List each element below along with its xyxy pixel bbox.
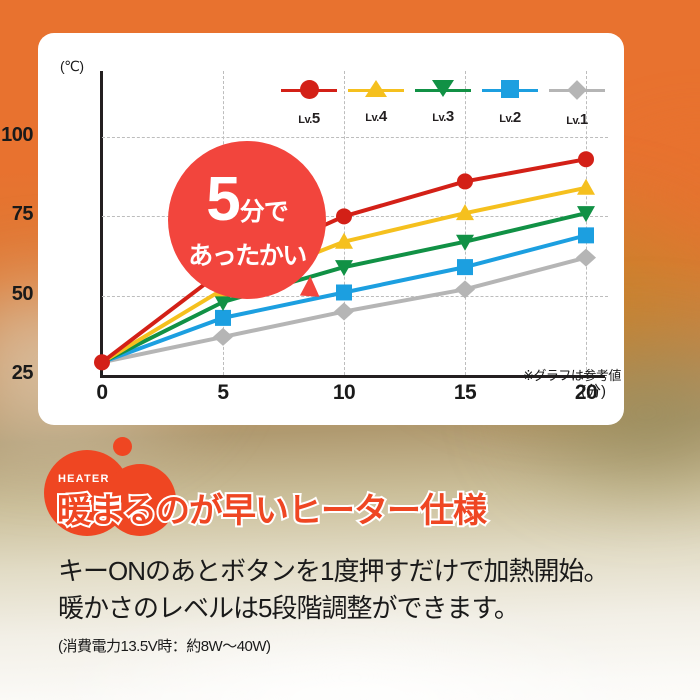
legend-label: Lv.2 [479,109,541,126]
data-point-marker [94,354,110,370]
y-tick-label: 25 [0,362,33,385]
description-sub: (消費電力13.5V時：約8W〜40W) [58,635,608,656]
data-point-marker [213,328,233,346]
triangle-down-marker-shape [432,80,454,97]
data-point-marker [457,259,473,275]
data-point-marker [578,151,594,167]
heater-heading-block: HEATER 暖まるのが早いヒーター仕様 [0,432,700,522]
legend-label-value: 5 [312,110,320,127]
data-point-marker [457,173,473,189]
y-tick-label: 100 [0,124,33,147]
data-point-marker [336,208,352,224]
data-point-marker [455,280,475,298]
circle-marker [300,80,319,99]
reference-note: ※グラフは参考値 [523,365,621,384]
legend-label-prefix: Lv. [499,113,513,125]
callout-bubble: 5 分で あったかい [168,141,326,299]
description-line-2: 暖かさのレベルは5段階調整ができます。 [58,590,608,627]
legend-label: Lv.4 [345,108,407,125]
callout-suffix: 分で [240,200,288,225]
description-line-1: キーONのあとボタンを1度押すだけで加熱開始。 [58,553,608,590]
legend-label-value: 1 [580,111,588,128]
legend-label-prefix: Lv. [365,112,379,124]
data-point-marker [215,310,231,326]
triangle-up-marker-shape [365,80,387,97]
legend-label: Lv.3 [412,108,474,125]
legend-label-prefix: Lv. [298,114,312,126]
square-marker [501,80,519,98]
callout-line-1: 5 分で [206,169,288,231]
square-marker-shape [501,80,519,98]
callout-number: 5 [206,169,237,231]
legend-label: Lv.1 [546,111,608,128]
triangle-up-marker [365,80,387,97]
legend-label-value: 4 [379,108,387,125]
data-point-marker [334,303,354,321]
y-tick-label: 75 [0,203,33,226]
legend-label-prefix: Lv. [432,112,446,124]
callout-line-2: あったかい [188,236,306,272]
triangle-down-marker [432,80,454,97]
legend-label-prefix: Lv. [566,115,580,127]
legend-label-value: 2 [513,109,521,126]
heading-title: 暖まるのが早いヒーター仕様 [57,483,486,532]
legend-item-lv3: Lv.3 [412,76,474,136]
legend-label: Lv.5 [278,110,340,127]
description-block: キーONのあとボタンを1度押すだけで加熱開始。 暖かさのレベルは5段階調整ができ… [58,553,608,656]
circle-marker-shape [300,80,319,99]
legend-item-lv2: Lv.2 [479,76,541,136]
chart-legend: Lv.5Lv.4Lv.3Lv.2Lv.1 [278,76,608,136]
data-point-marker [578,227,594,243]
data-point-marker [577,179,595,195]
diamond-marker-shape [567,80,587,100]
heading-blob-small [113,437,132,456]
data-point-marker [336,284,352,300]
legend-item-lv4: Lv.4 [345,76,407,136]
diamond-marker [570,80,584,100]
legend-item-lv5: Lv.5 [278,76,340,136]
temperature-line-chart: (℃) (分) 255075100 05101520 ※グラフは参考値 Lv.5… [38,33,624,425]
legend-label-value: 3 [446,108,454,125]
y-tick-label: 50 [0,283,33,306]
legend-item-lv1: Lv.1 [546,76,608,136]
data-point-marker [576,249,596,267]
chart-card: (℃) (分) 255075100 05101520 ※グラフは参考値 Lv.5… [38,33,624,425]
